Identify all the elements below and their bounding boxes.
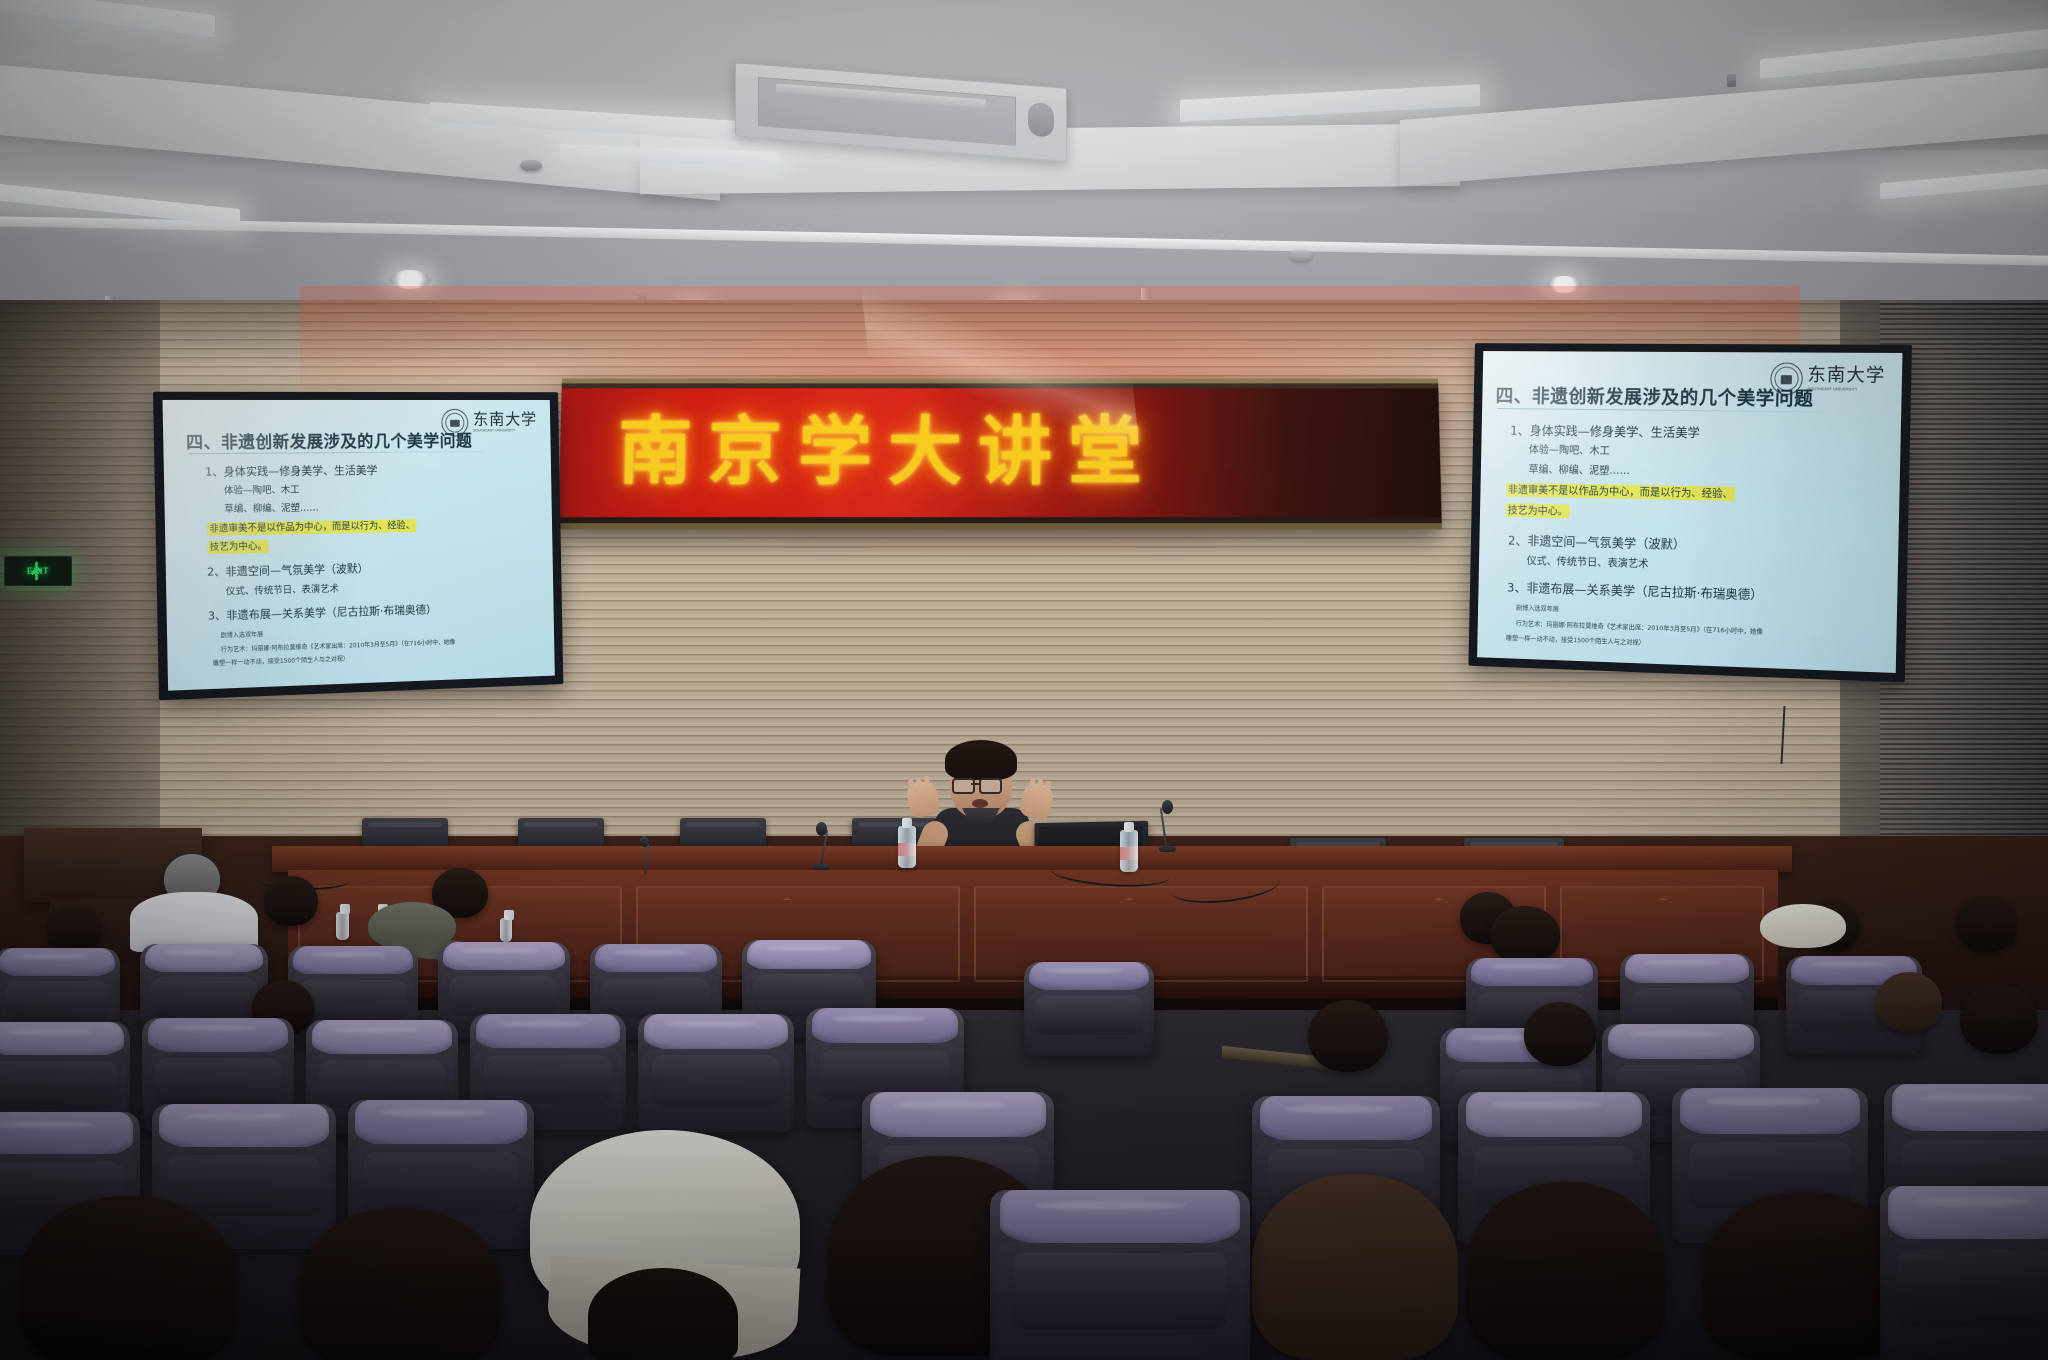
microphone-head-icon	[640, 836, 649, 847]
seat-headrest	[443, 942, 564, 974]
seat-headrest	[595, 944, 716, 976]
slide-title: 四、非遗创新发展涉及的几个美学问题	[186, 428, 473, 454]
seat-headrest	[0, 1022, 124, 1059]
slide-content-right: 东南大学 SOUTHEAST UNIVERSITY 四、非遗创新发展涉及的几个美…	[1477, 351, 1902, 673]
university-name-en: SOUTHEAST UNIVERSITY	[473, 429, 537, 433]
audience-hair-foreground	[588, 1268, 738, 1360]
seat-headrest	[870, 1092, 1047, 1143]
baseball-cap	[1760, 904, 1846, 948]
seat-back	[995, 1243, 1245, 1360]
seat-headrest	[159, 1104, 328, 1152]
seat-headrest	[747, 940, 870, 973]
slide-footnote: 雕塑一样一动不动，接受1500个陌生人与之对视）	[213, 654, 349, 668]
microphone	[640, 836, 654, 874]
ceiling-downlight	[390, 270, 430, 289]
presenter-hair	[945, 740, 1017, 780]
seat-headrest	[0, 948, 115, 979]
audience-head	[46, 906, 102, 954]
slide-item-highlighted: 技艺为中心。	[208, 538, 267, 553]
seat-headrest	[476, 1014, 620, 1053]
slide-footnote: 剧博入选双年展	[220, 629, 263, 640]
smoke-detector-icon	[520, 160, 542, 171]
slide-content-left: 东南大学 SOUTHEAST UNIVERSITY 四、非遗创新发展涉及的几个美…	[162, 400, 554, 691]
presenter-mouth	[972, 799, 988, 808]
led-banner: 南京学大讲堂	[558, 378, 1442, 529]
seat-headrest	[145, 944, 263, 975]
slide-item-highlighted: 技艺为中心。	[1506, 502, 1569, 518]
auditorium-seat-foreground	[990, 1190, 1250, 1360]
seat-headrest	[293, 946, 413, 978]
seat-headrest	[148, 1018, 288, 1056]
head-table-top	[272, 846, 1792, 872]
audience-head	[1960, 984, 2038, 1054]
slide-item: 草编、柳编、泥塑……	[1528, 461, 1630, 478]
microphone	[816, 822, 830, 872]
emergency-exit-sign: EXIT	[4, 556, 72, 586]
audience-head-foreground	[20, 1196, 236, 1360]
led-banner-panel: 南京学大讲堂	[558, 388, 1441, 517]
microphone-base	[1159, 846, 1176, 852]
ac-side-vent	[1028, 102, 1054, 138]
audience-shoulders	[130, 892, 258, 952]
audience-head	[1524, 1002, 1596, 1066]
slide-footnote: 雕塑一样一动不动，接受1500个陌生人与之对视）	[1506, 633, 1645, 647]
slide-item: 1、身体实践—修身美学、生活美学	[1510, 420, 1700, 441]
seat-headrest	[0, 1112, 133, 1160]
audience-head	[1956, 896, 2018, 952]
slide-item-highlighted: 非遗审美不是以作品为中心，而是以行为、经验、	[208, 517, 416, 535]
audience-head-foreground	[1252, 1174, 1458, 1360]
auditorium-seat	[638, 1014, 794, 1130]
audience-head-foreground	[300, 1208, 500, 1360]
slide-footnote: 行为艺术：玛丽娜·阿布拉莫维奇《艺术家出席：2010年3月至5月》（在716小时…	[221, 637, 456, 654]
screen-surface: 东南大学 SOUTHEAST UNIVERSITY 四、非遗创新发展涉及的几个美…	[1477, 351, 1902, 673]
seat-headrest	[312, 1020, 452, 1058]
auditorium-seat	[1024, 962, 1154, 1054]
seat-headrest	[1260, 1096, 1433, 1146]
sprinkler-head-icon	[1727, 74, 1736, 87]
university-name-cn: 东南大学	[1807, 367, 1885, 386]
smoke-detector-icon	[1290, 250, 1312, 261]
auditorium-seat-foreground	[1880, 1186, 2048, 1360]
slide-item: 2、非遗空间—气氛美学（波默）	[207, 560, 369, 580]
slide-item: 仪式、传统节日、表演艺术	[226, 581, 339, 598]
seat-headrest	[1892, 1084, 2048, 1137]
projection-screen-left: 东南大学 SOUTHEAST UNIVERSITY 四、非遗创新发展涉及的几个美…	[153, 392, 563, 701]
water-bottle	[500, 918, 512, 942]
seat-headrest	[644, 1014, 788, 1053]
water-bottle	[898, 826, 916, 868]
seat-headrest	[1608, 1024, 1753, 1063]
presenter-hand-left	[905, 779, 941, 818]
audience-head-foreground	[1466, 1182, 1666, 1360]
screen-surface: 东南大学 SOUTHEAST UNIVERSITY 四、非遗创新发展涉及的几个美…	[162, 400, 554, 691]
slide-title: 四、非遗创新发展涉及的几个美学问题	[1495, 382, 1813, 411]
seat-headrest	[1625, 954, 1748, 987]
water-bottle	[336, 912, 349, 940]
glasses-icon	[952, 778, 975, 794]
microphone-head-icon	[1162, 800, 1173, 814]
seat-headrest	[1029, 962, 1149, 993]
slide-item: 体验—陶吧、木工	[1529, 442, 1610, 458]
seat-headrest	[1471, 958, 1592, 990]
bottle-label	[1120, 847, 1138, 860]
microphone-head-icon	[816, 822, 827, 836]
slide-footnote: 行为艺术：玛丽娜·阿布拉莫维奇《艺术家出席：2010年3月至5月》（在716小时…	[1516, 618, 1763, 635]
seat-headrest	[1888, 1186, 2048, 1247]
seat-headrest	[1000, 1190, 1239, 1250]
running-person-icon	[31, 562, 42, 580]
seat-headrest	[1466, 1092, 1643, 1143]
slide-item: 体验—陶吧、木工	[224, 482, 300, 497]
lecture-hall-photo: EXIT 南京学大讲堂 东南大学 SOUTHEAST UNIVERSITY 四、…	[0, 0, 2048, 1360]
slide-item: 1、身体实践—修身美学、生活美学	[205, 462, 378, 480]
slide-item: 2、非遗空间—气氛美学（波默）	[1508, 530, 1686, 553]
glasses-icon	[979, 778, 1002, 794]
slide-item: 3、非遗布展—关系美学（尼古拉斯·布瑞奥德）	[1507, 577, 1763, 604]
seat-headrest	[355, 1100, 526, 1150]
slide-item: 草编、柳编、泥塑……	[224, 500, 319, 516]
audience-head	[1308, 1000, 1388, 1072]
slide-item: 3、非遗布展—关系美学（尼古拉斯·布瑞奥德）	[208, 601, 437, 624]
ceiling-downlight	[1546, 276, 1582, 293]
seat-back	[641, 1049, 791, 1133]
university-name-cn: 东南大学	[473, 412, 537, 428]
seat-back	[1884, 1239, 2048, 1360]
microphone-base	[813, 864, 830, 870]
projection-screen-right: 东南大学 SOUTHEAST UNIVERSITY 四、非遗创新发展涉及的几个美…	[1468, 343, 1912, 682]
slide-item-highlighted: 非遗审美不是以作品为中心，而是以行为、经验、	[1507, 482, 1734, 501]
slide-item: 仪式、传统节日、表演艺术	[1526, 553, 1648, 571]
glasses-bridge-icon	[971, 783, 979, 785]
university-name-en: SOUTHEAST UNIVERSITY	[1807, 387, 1885, 392]
audience-head	[1876, 972, 1942, 1032]
presenter-hand-right	[1019, 781, 1055, 820]
seat-back	[1027, 990, 1152, 1056]
audience-head-foreground	[1702, 1192, 1908, 1360]
seat-headrest	[1680, 1088, 1860, 1140]
audience-head	[1490, 906, 1560, 964]
led-banner-text: 南京学大讲堂	[617, 414, 1158, 488]
microphone	[1162, 800, 1176, 852]
slide-footnote: 剧博入选双年展	[1516, 603, 1559, 613]
bottle-label	[898, 843, 916, 856]
audience-head	[264, 876, 318, 926]
seat-headrest	[812, 1008, 957, 1048]
microphone-stem	[644, 844, 649, 874]
